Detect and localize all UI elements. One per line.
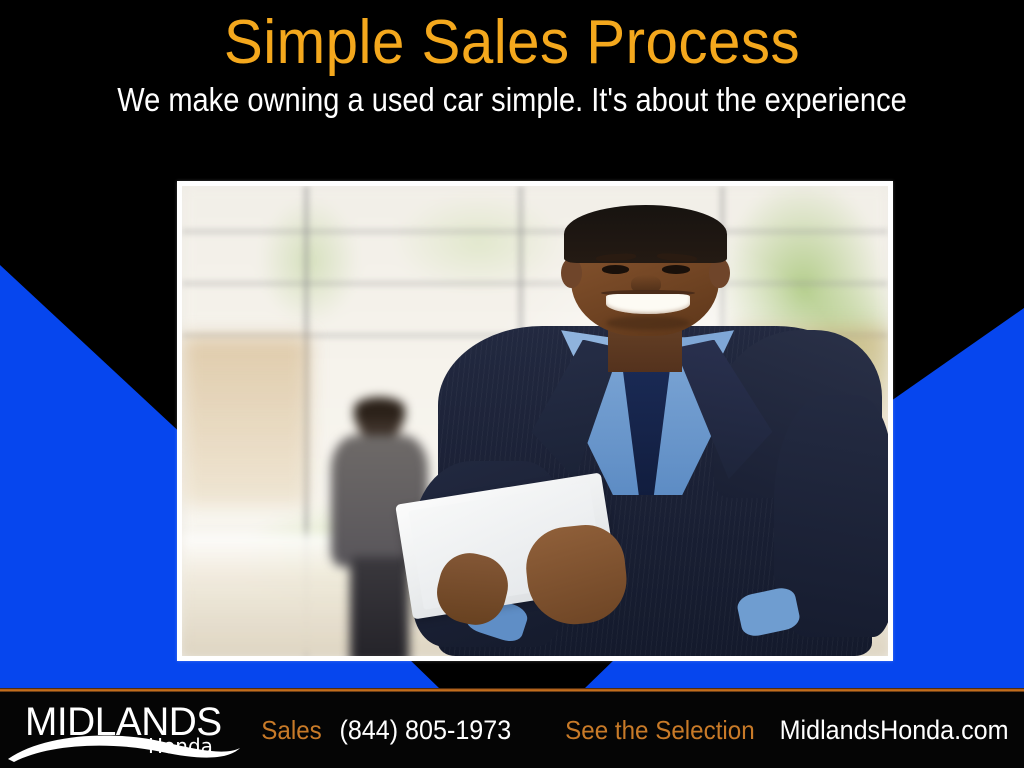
footer-bar: MIDLANDS Honda Sales (844) 805-1973 See … [0, 692, 1024, 768]
hero-photo-frame [177, 181, 893, 661]
hero-photo [182, 186, 888, 656]
footer-contacts: Sales (844) 805-1973 See the Selection M… [245, 715, 1017, 746]
contact-website-url[interactable]: MidlandsHonda.com [779, 715, 1008, 746]
wall-panel [182, 336, 309, 505]
blue-accent-bottom-left [0, 658, 440, 689]
foreground-salesman [408, 191, 888, 656]
contact-website[interactable]: See the Selection MidlandsHonda.com [558, 715, 1017, 746]
page-subtitle: We make owning a used car simple. It's a… [61, 81, 962, 119]
logo-swoosh-icon [4, 728, 242, 764]
contact-sales-label: Sales [261, 715, 321, 746]
blue-accent-bottom-right [584, 658, 1024, 689]
dealer-logo[interactable]: MIDLANDS Honda [0, 692, 245, 768]
blue-accent-left [0, 258, 186, 670]
contact-sales-phone[interactable]: (844) 805-1973 [340, 715, 512, 746]
header: Simple Sales Process We make owning a us… [0, 0, 1024, 140]
page-title: Simple Sales Process [31, 0, 994, 79]
contact-sales[interactable]: Sales (844) 805-1973 [259, 715, 518, 746]
slide-canvas: Simple Sales Process We make owning a us… [0, 0, 1024, 768]
contact-website-label: See the Selection [565, 715, 755, 746]
